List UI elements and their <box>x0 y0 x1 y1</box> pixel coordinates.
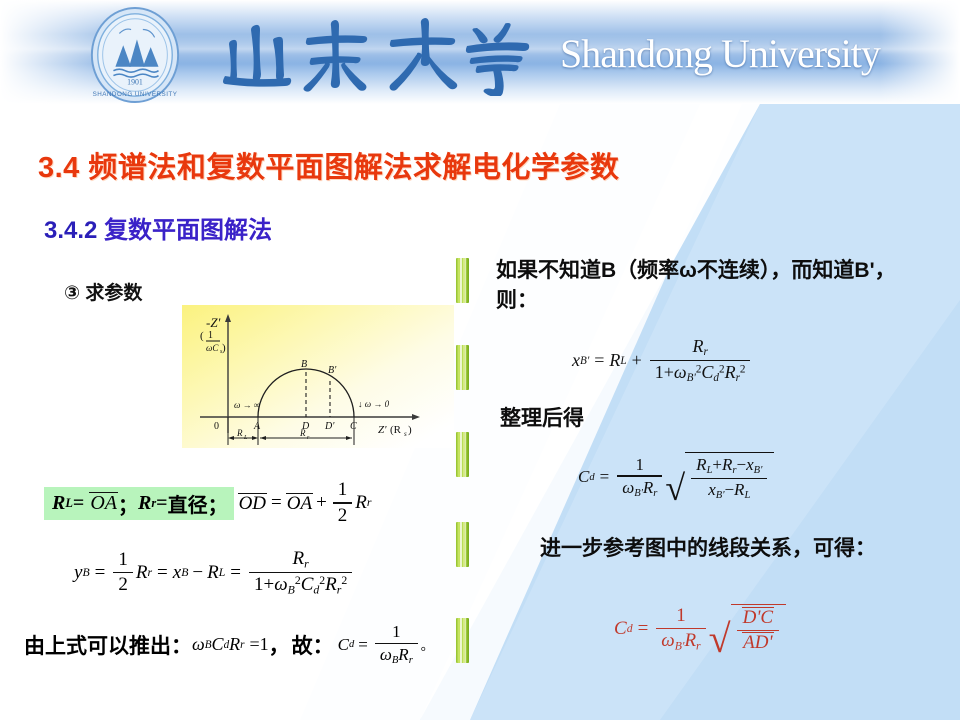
yB-equals-2: = <box>157 562 168 584</box>
right-paragraph-1-line2: 则： <box>496 286 946 316</box>
formula-Cd-final: Cd = 1 ωB'Rr √ D'C AD' <box>614 604 786 654</box>
rad-num-x-sub: B' <box>754 465 763 476</box>
half-numerator: 1 <box>333 479 353 501</box>
fraction-bar <box>737 630 779 631</box>
section-subtitle: 3.4.2 复数平面图解法 <box>44 210 272 245</box>
segment-DprimeC: D'C <box>742 607 774 628</box>
point-label-Bprime: B' <box>328 365 337 376</box>
deduce-den-omega: ω <box>380 645 392 664</box>
rad-num-minus: − <box>737 455 747 474</box>
Cd-sub: d <box>589 472 594 483</box>
Cd-den-R-sub: r <box>653 488 657 499</box>
Cd-symbol: C <box>578 467 589 487</box>
fraction-bar <box>650 360 751 361</box>
dimension-label-RL-sub: L <box>243 435 248 441</box>
background-decoration <box>0 0 960 720</box>
deduce-R-sub: r <box>240 639 244 651</box>
x-axis-label: Z' <box>378 424 387 436</box>
den-R-sup: 2 <box>341 574 347 587</box>
step-label: ③ 求参数 <box>64 278 142 305</box>
fraction-bar <box>617 475 662 476</box>
RL-equals: = <box>73 492 84 515</box>
Cd-rad-den: xB'−RL <box>703 480 755 502</box>
deduce-equals-one: =1 <box>249 634 268 655</box>
xBp-num-R: R <box>692 336 703 356</box>
yB-half-num: 1 <box>113 549 133 571</box>
xBp-frac-num: Rr <box>687 336 712 359</box>
Cd-final-den-omega-sub: B' <box>675 640 685 653</box>
formula-RL-definitions: RL = OA ； Rr = 直径； OD = OA + 1 2 Rr <box>44 486 372 520</box>
yB-RL: R <box>207 562 219 584</box>
fraction-bar <box>375 643 418 644</box>
rad-den-x: x <box>708 480 716 499</box>
yB-symbol: y <box>74 562 82 584</box>
seal-ring-text: SHANDONG UNIVERSITY <box>93 91 178 98</box>
Cd-frac-num: 1 <box>631 455 650 475</box>
right-paragraph-2: 整理后得 <box>500 404 584 434</box>
radical-sign-icon: √ <box>665 452 685 503</box>
deduction-row: 由上式可以推出： ωBCdRr =1 ， 故： Cd = 1 ωBRr 。 <box>24 622 434 667</box>
slide-canvas: 1901 SHANDONG UNIVERSITY <box>0 0 960 720</box>
deduction-text-2: 故： <box>292 630 334 660</box>
point-label-A: A <box>253 421 261 432</box>
Cd-final-den-omega: ω <box>661 630 674 651</box>
dimension-label-RL: R <box>236 428 243 438</box>
Cd-den-omega-sub: B' <box>634 488 643 499</box>
deduce-tail: 。 <box>421 635 434 654</box>
Cd-den-omega: ω <box>622 478 634 497</box>
xBp-frac-den: 1+ωB'2Cd2Rr2 <box>650 362 751 385</box>
Rr-2-subscript: r <box>367 496 372 510</box>
page-title: 3.4 频谱法和复数平面图解法求解电化学参数 <box>38 144 619 186</box>
yB-frac-num-R-sub: r <box>304 557 309 570</box>
den-one: 1+ <box>254 574 274 595</box>
y-axis-sub-denominator: ωC <box>206 343 219 353</box>
Cd-final-den-R: R <box>684 630 696 651</box>
deduce-R: R <box>229 634 240 655</box>
xBp-x-sub: B' <box>580 355 589 367</box>
yB-frac-num: Rr <box>288 548 314 571</box>
Rr-symbol: R <box>138 492 151 515</box>
xBp-den-R-sup: 2 <box>740 364 746 376</box>
formula-Cd-rearranged: Cd = 1 ωB'Rr √ RL+Rr−xB' xB'−RL <box>578 452 774 503</box>
seal-year: 1901 <box>127 77 143 86</box>
Cd-final-rad-den: AD' <box>737 632 778 654</box>
yB-x: x <box>173 562 181 584</box>
point-label-B: B <box>301 359 307 370</box>
fraction-bar <box>249 572 352 573</box>
origin-label: 0 <box>214 421 219 432</box>
Cd-rad-num: RL+Rr−xB' <box>691 455 767 477</box>
xBp-RL: R <box>609 350 620 371</box>
deduce-Cd: C <box>338 635 349 655</box>
Rr-equals: = <box>156 492 167 515</box>
yB-RL-sub: L <box>219 566 226 580</box>
rad-den-RL-sub: L <box>744 490 750 501</box>
Cd-final-rad-num: D'C <box>737 607 779 629</box>
rad-num-Rr: R <box>722 455 732 474</box>
bullet-marker-5 <box>456 618 469 663</box>
deduce-den-R: R <box>398 645 408 664</box>
svg-text:): ) <box>222 342 226 354</box>
formula-RL-highlight: RL = OA ； Rr = 直径； <box>44 487 234 520</box>
formula-xBprime: xB' = RL + Rr 1+ωB'2Cd2Rr2 <box>572 336 753 385</box>
Cd-final-num: 1 <box>671 605 691 627</box>
Cd-final-symbol: C <box>614 618 627 640</box>
omega-zero-label: ↓ ω → 0 <box>358 399 390 409</box>
OD-plus: + <box>316 492 327 514</box>
deduce-comma: ， <box>269 630 290 660</box>
xBp-num-R-sub: r <box>703 346 707 358</box>
banner-right-fade <box>880 0 960 104</box>
formula-yB: yB = 1 2 Rr = xB − RL = Rr 1+ωB2Cd2Rr2 <box>74 548 355 597</box>
xBp-RL-sub: L <box>620 355 626 367</box>
yB-half-den: 2 <box>113 574 133 596</box>
x-axis-label-sub: s <box>404 430 407 438</box>
right-paragraph-1: 如果不知道B（频率ω不连续），而知道B'， 则： <box>496 256 946 316</box>
subtitle-text: 复数平面图解法 <box>104 217 272 244</box>
header-banner: 1901 SHANDONG UNIVERSITY <box>0 0 960 104</box>
Cd-radicand: RL+Rr−xB' xB'−RL <box>685 452 774 503</box>
segment-OA: OA <box>89 492 118 514</box>
nyquist-plot-figure: -Z' ( 1 ωC s ) ω → ∞ ↓ ω → 0 0 A D D' C … <box>182 305 454 448</box>
yB-frac-num-R: R <box>293 548 305 569</box>
deduce-frac-num: 1 <box>387 622 406 642</box>
x-axis-label-close: ) <box>408 424 412 436</box>
xBp-plus: + <box>632 350 642 371</box>
diameter-label: 直径； <box>168 489 228 518</box>
radical-sign-icon: √ <box>709 604 731 654</box>
point-label-Dprime: D' <box>324 421 335 432</box>
rad-num-RL: R <box>696 455 706 474</box>
deduce-omega: ω <box>192 634 205 655</box>
bullet-marker-4 <box>456 522 469 567</box>
Rr-2-symbol: R <box>355 492 367 514</box>
Cd-final-sub: d <box>627 622 633 636</box>
deduction-text-1: 由上式可以推出： <box>24 630 192 660</box>
xBp-den-C: C <box>701 362 713 382</box>
fraction-bar <box>656 628 705 629</box>
x-axis-label-paren: (R <box>390 424 402 436</box>
Cd-final-den-R-sub: r <box>696 640 701 653</box>
rad-den-RL: R <box>734 480 744 499</box>
segment-OA-2: OA <box>286 493 313 514</box>
Cd-final-equals: = <box>638 618 649 640</box>
fraction-bar <box>691 478 767 479</box>
Cd-final-radicand: D'C AD' <box>731 604 786 654</box>
yB-equals-1: = <box>95 562 106 584</box>
yB-x-sub: B <box>181 566 188 580</box>
right-paragraph-3: 进一步参考图中的线段关系，可得： <box>540 534 876 564</box>
y-axis-sub-numerator: 1 <box>208 330 213 341</box>
segment-ADprime: AD' <box>742 632 773 653</box>
Cd-sqrt: √ RL+Rr−xB' xB'−RL <box>665 452 774 503</box>
university-chinese-name <box>215 14 545 96</box>
rad-den-minus: − <box>724 480 734 499</box>
bullet-marker-1 <box>456 258 469 303</box>
fraction-bar <box>113 572 133 573</box>
right-paragraph-1-line1: 如果不知道B（频率ω不连续），而知道B'， <box>496 256 946 286</box>
yB-frac-den: 1+ωB2Cd2Rr2 <box>249 574 352 597</box>
university-english-name: Shandong University <box>560 30 880 77</box>
dimension-label-Rr: R <box>299 428 306 438</box>
Cd-den-R: R <box>643 478 653 497</box>
bullet-marker-2 <box>456 345 469 390</box>
deduce-C: C <box>212 634 224 655</box>
deduce-Cd-equals: = <box>358 635 368 655</box>
den-C: C <box>301 574 314 595</box>
Cd-frac-den: ωB'Rr <box>617 478 662 500</box>
rad-num-plus: + <box>712 455 722 474</box>
deduce-Cd-sub: d <box>349 639 354 650</box>
xBp-den-one: 1+ <box>655 362 674 382</box>
OD-equals: = <box>271 492 282 514</box>
rad-num-x: x <box>746 455 754 474</box>
y-axis-label: -Z' <box>206 315 221 330</box>
deduce-frac-den: ωBRr <box>375 645 418 667</box>
Cd-equals: = <box>600 467 610 487</box>
den-R: R <box>325 574 337 595</box>
shandong-university-seal-icon: 1901 SHANDONG UNIVERSITY <box>86 6 184 104</box>
den-omega: ω <box>274 574 287 595</box>
yB-minus: − <box>192 562 203 584</box>
RL-subscript: L <box>65 496 73 511</box>
deduce-omega-sub: B <box>205 639 212 651</box>
den-omega-sub: B <box>288 584 295 597</box>
Cd-final-den: ωB'Rr <box>656 630 705 653</box>
fraction-bar <box>333 502 353 503</box>
xBp-x: x <box>572 350 580 371</box>
svg-text:(: ( <box>200 330 204 342</box>
yB-Rr-sub: r <box>147 566 152 580</box>
xBp-equals: = <box>594 350 604 371</box>
yB-Rr: R <box>136 562 148 584</box>
RL-symbol: R <box>52 492 65 515</box>
deduce-den-R-sub: r <box>409 655 413 666</box>
Cd-final-sqrt: √ D'C AD' <box>709 604 786 654</box>
xBp-den-omega-sub: B' <box>687 372 696 384</box>
yB-equals-3: = <box>230 562 241 584</box>
bullet-marker-3 <box>456 432 469 477</box>
separator-1: ； <box>118 489 138 518</box>
xBp-den-omega: ω <box>674 362 687 382</box>
subtitle-number: 3.4.2 <box>44 217 97 244</box>
yB-subscript: B <box>82 566 89 580</box>
segment-OD: OD <box>238 493 267 514</box>
xBp-den-R: R <box>725 362 736 382</box>
half-denominator: 2 <box>333 505 353 527</box>
omega-infinity-label: ω → ∞ <box>234 400 260 410</box>
